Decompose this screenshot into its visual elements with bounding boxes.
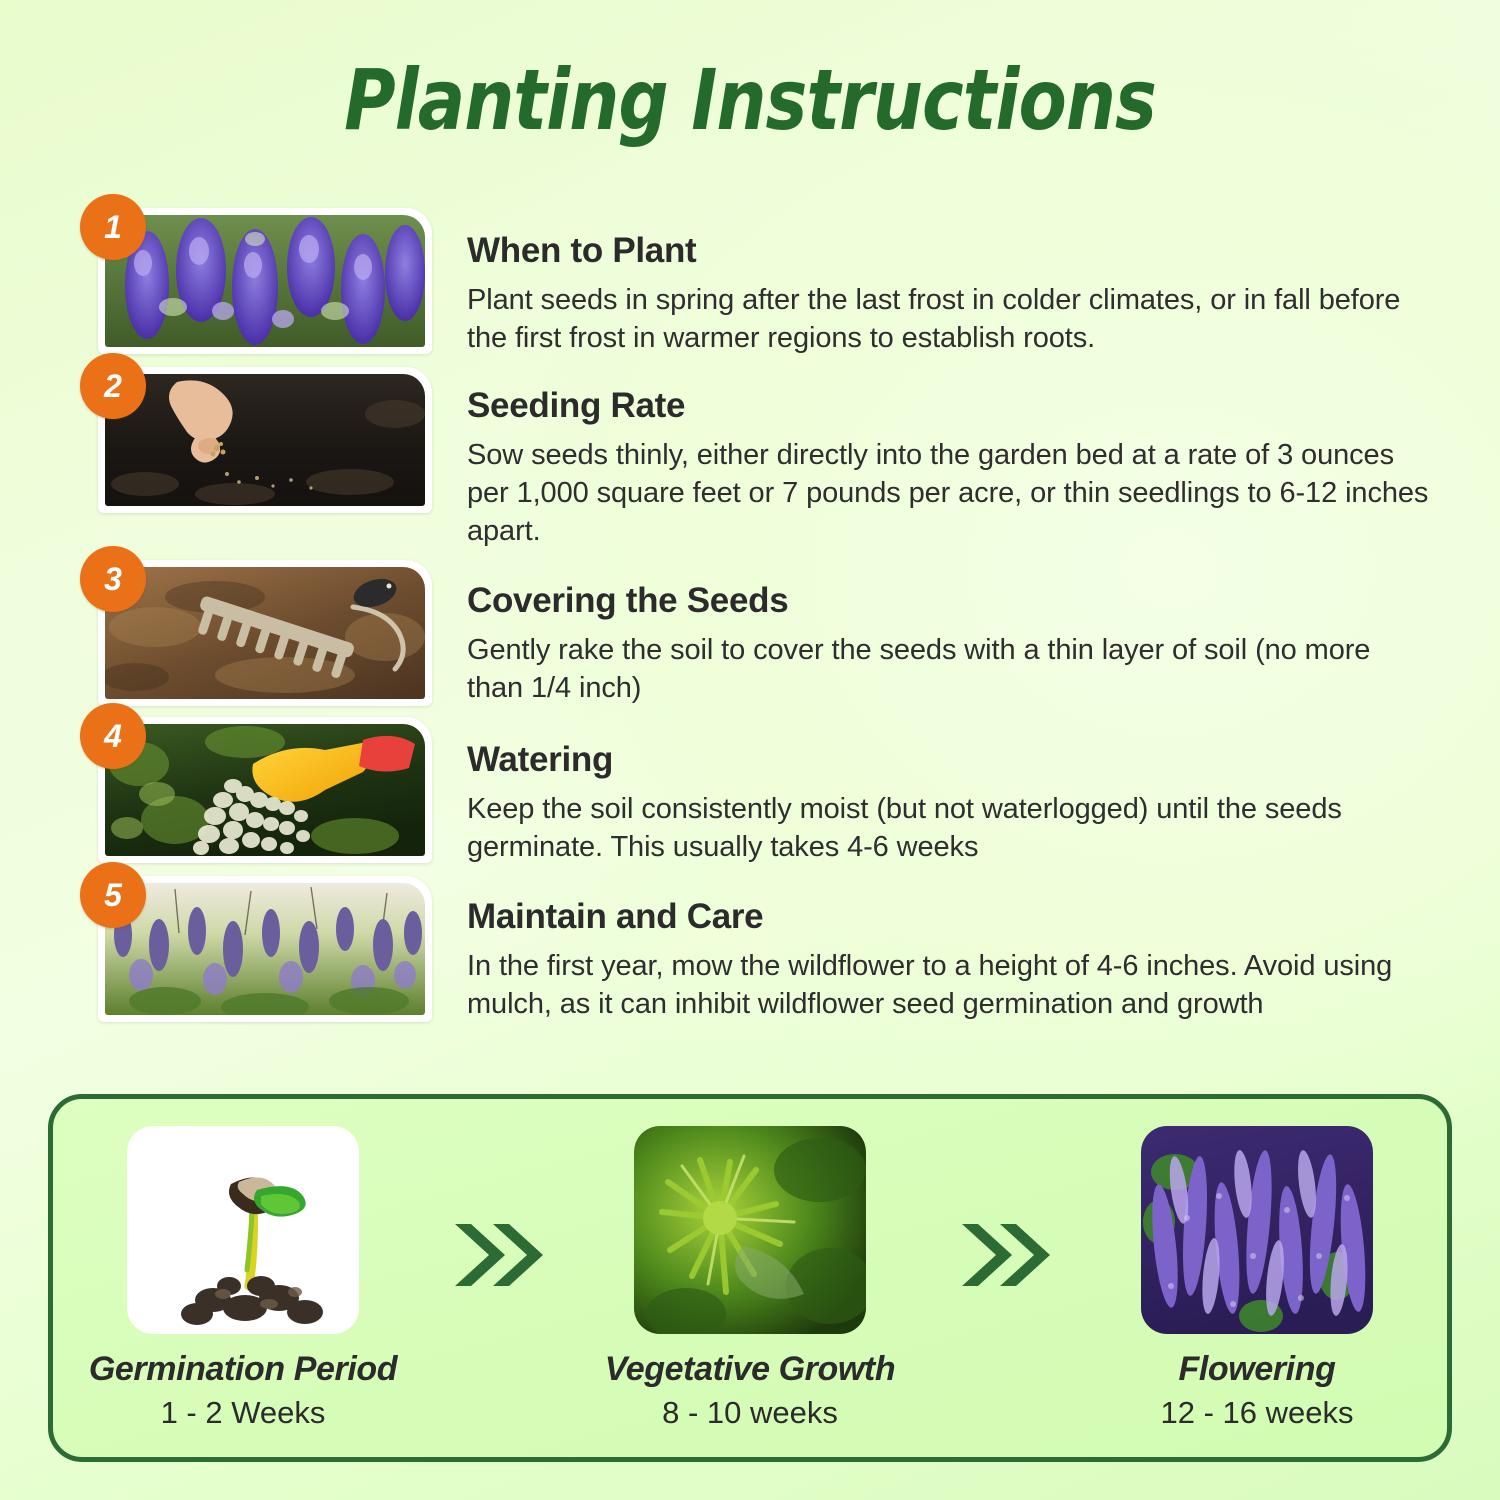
step-item: 5 [0,876,1500,1023]
step-thumbnail-wrap: 2 [98,367,432,513]
step-number-badge: 2 [80,353,146,419]
step-body: Gently rake the soil to cover the seeds … [467,631,1430,708]
hand-sowing-seeds-in-soil-photo [105,374,425,506]
step-number-badge: 5 [80,862,146,928]
double-chevron-right-icon [443,1210,551,1300]
page-title: Planting Instructions [53,58,1448,142]
step-text-block: Seeding Rate Sow seeds thinly, either di… [432,367,1500,550]
step-number-badge: 3 [80,546,146,612]
step-text-block: Watering Keep the soil consistently mois… [432,717,1500,866]
thumbnail-frame [98,560,432,706]
timeline-stage: Germination Period 1 - 2 Weeks [93,1126,393,1431]
timeline-stage: Flowering 12 - 16 weeks [1107,1126,1407,1431]
thumbnail-frame [98,717,432,863]
step-body: Keep the soil consistently moist (but no… [467,790,1430,867]
green-leafy-plant-photo [634,1126,866,1334]
step-text-block: Maintain and Care In the first year, mow… [432,876,1500,1023]
purple-wildflower-field-photo [105,883,425,1015]
step-body: In the first year, mow the wildflower to… [467,947,1470,1024]
watering-can-sprinkling-photo [105,724,425,856]
step-text-block: When to Plant Plant seeds in spring afte… [432,208,1500,357]
step-body: Sow seeds thinly, either directly into t… [467,436,1430,551]
step-title: Watering [467,741,1430,780]
step-number-badge: 4 [80,703,146,769]
purple-wildflower-closeup-photo [105,215,425,347]
rake-on-soil-photo [105,567,425,699]
step-title: When to Plant [467,232,1430,271]
thumbnail-frame [98,367,432,513]
growth-timeline-panel: Germination Period 1 - 2 Weeks [48,1094,1452,1462]
step-item: 1 [0,208,1500,357]
step-thumbnail-wrap: 3 [98,560,432,706]
infographic-page: Planting Instructions 1 [0,0,1500,1500]
step-title: Maintain and Care [467,898,1470,937]
timeline-stage-label: Flowering [1179,1350,1336,1389]
timeline-stage-label: Vegetative Growth [605,1350,895,1389]
step-thumbnail-wrap: 1 [98,208,432,354]
steps-list: 1 [0,208,1500,1033]
timeline-stage: Vegetative Growth 8 - 10 weeks [600,1126,900,1431]
thumbnail-frame [98,208,432,354]
step-title: Seeding Rate [467,387,1430,426]
timeline-stage-label: Germination Period [89,1350,397,1389]
step-title: Covering the Seeds [467,582,1430,621]
sprouting-seedling-photo [127,1126,359,1334]
step-item: 2 [0,367,1500,550]
thumbnail-frame [98,876,432,1022]
step-thumbnail-wrap: 4 [98,717,432,863]
lavender-field-photo [1141,1126,1373,1334]
step-item: 4 [0,717,1500,866]
timeline-stage-duration: 1 - 2 Weeks [161,1395,326,1431]
double-chevron-right-icon [950,1210,1058,1300]
step-number-badge: 1 [80,194,146,260]
step-body: Plant seeds in spring after the last fro… [467,281,1430,358]
timeline-stage-duration: 8 - 10 weeks [662,1395,838,1431]
step-thumbnail-wrap: 5 [98,876,432,1022]
timeline-stage-duration: 12 - 16 weeks [1161,1395,1354,1431]
step-item: 3 [0,560,1500,707]
step-text-block: Covering the Seeds Gently rake the soil … [432,560,1500,707]
